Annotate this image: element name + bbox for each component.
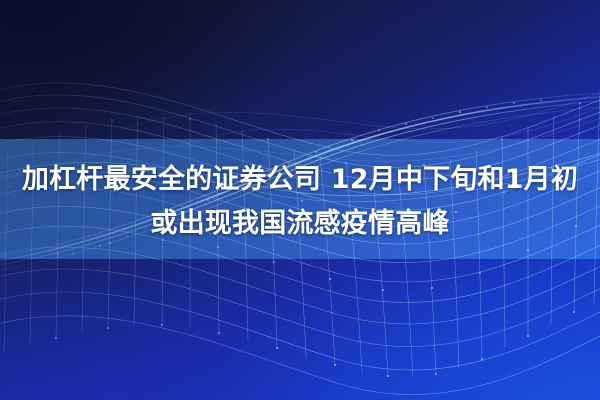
headline-line-2: 或出现我国流感疫情高峰: [0, 202, 600, 246]
page-title: 加杠杆最安全的证券公司 12月中下旬和1月初 或出现我国流感疫情高峰: [0, 158, 600, 246]
news-banner: 加杠杆最安全的证券公司 12月中下旬和1月初 或出现我国流感疫情高峰: [0, 0, 600, 400]
headline-line-1: 加杠杆最安全的证券公司 12月中下旬和1月初: [0, 158, 600, 202]
